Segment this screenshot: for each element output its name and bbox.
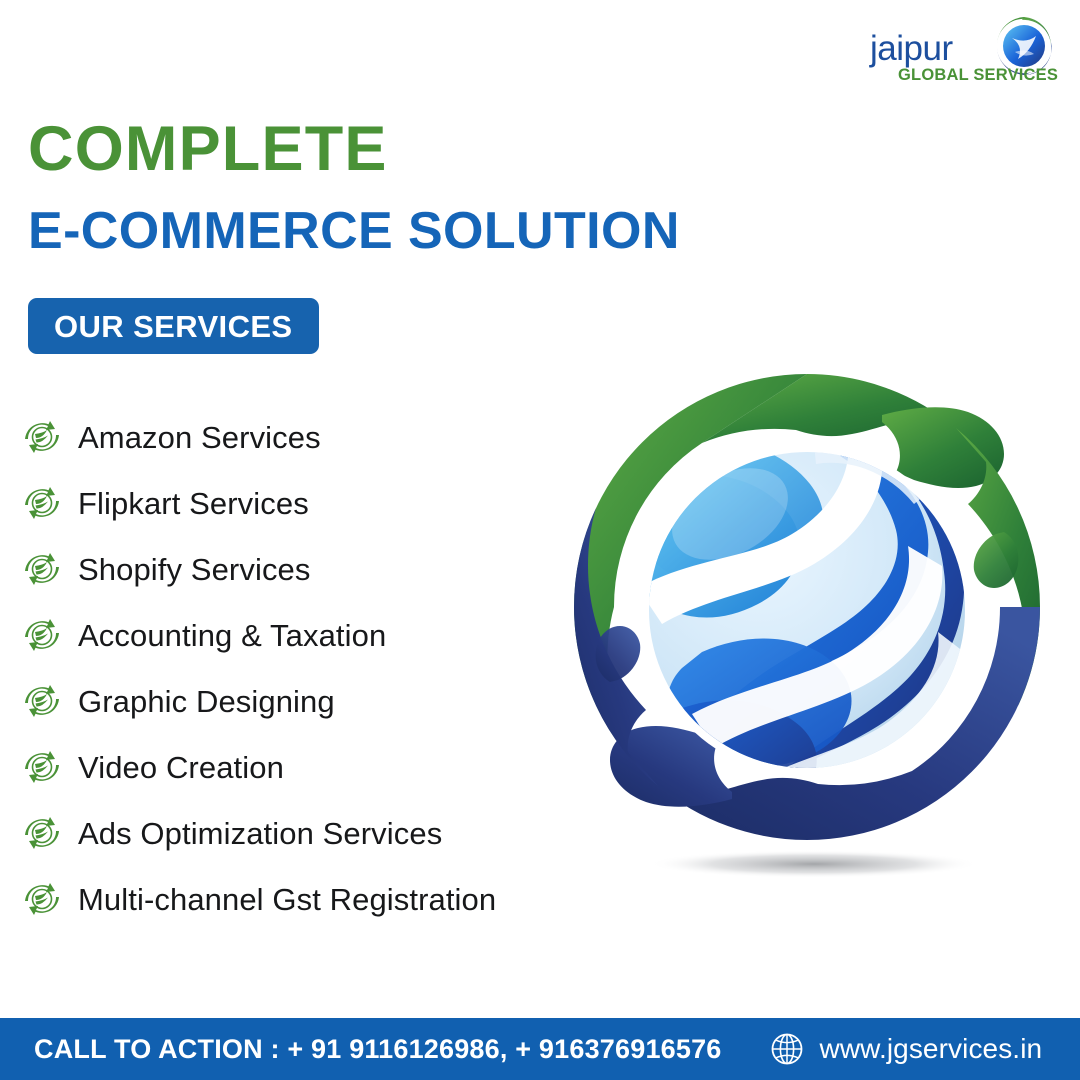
service-label: Multi-channel Gst Registration — [78, 884, 496, 915]
list-item: Ads Optimization Services — [22, 800, 622, 866]
call-to-action-text: CALL TO ACTION : + 91 9116126986, + 9163… — [34, 1034, 722, 1065]
website-url[interactable]: www.jgservices.in — [820, 1033, 1043, 1065]
globe-cradled-in-hands-illustration — [552, 352, 1062, 892]
our-services-badge-label: OUR SERVICES — [54, 311, 293, 342]
list-item: Amazon Services — [22, 404, 622, 470]
footer-contact-bar: CALL TO ACTION : + 91 9116126986, + 9163… — [0, 1018, 1080, 1080]
list-item: Flipkart Services — [22, 470, 622, 536]
website-group[interactable]: www.jgservices.in — [768, 1030, 1043, 1068]
green-swirl-refresh-icon — [22, 813, 62, 853]
our-services-badge: OUR SERVICES — [28, 298, 319, 354]
green-swirl-refresh-icon — [22, 615, 62, 655]
green-swirl-refresh-icon — [22, 747, 62, 787]
list-item: Graphic Designing — [22, 668, 622, 734]
green-swirl-refresh-icon — [22, 681, 62, 721]
brand-name: jaipur — [870, 32, 1002, 65]
list-item: Multi-channel Gst Registration — [22, 866, 622, 932]
headline-line-1: COMPLETE — [28, 118, 388, 181]
green-swirl-refresh-icon — [22, 483, 62, 523]
list-item: Shopify Services — [22, 536, 622, 602]
brand-tagline: GLOBAL SERVICES — [898, 67, 1002, 84]
list-item: Video Creation — [22, 734, 622, 800]
service-label: Flipkart Services — [78, 488, 309, 519]
globe-icon — [768, 1030, 806, 1068]
services-list: Amazon Services Flipkart Services — [22, 404, 622, 932]
brand-logo: jaipur GLOBAL SERVICES — [870, 14, 1056, 98]
headline-line-2: E-COMMERCE SOLUTION — [28, 205, 680, 257]
service-label: Graphic Designing — [78, 686, 335, 717]
service-label: Video Creation — [78, 752, 284, 783]
list-item: Accounting & Taxation — [22, 602, 622, 668]
poster-canvas: jaipur GLOBAL SERVICES COMPLETE E-COMMER… — [0, 0, 1080, 1080]
green-swirl-refresh-icon — [22, 417, 62, 457]
service-label: Ads Optimization Services — [78, 818, 442, 849]
brand-wordmark: jaipur GLOBAL SERVICES — [870, 32, 1002, 84]
service-label: Shopify Services — [78, 554, 310, 585]
green-swirl-refresh-icon — [22, 549, 62, 589]
service-label: Accounting & Taxation — [78, 620, 386, 651]
green-swirl-refresh-icon — [22, 879, 62, 919]
service-label: Amazon Services — [78, 422, 321, 453]
